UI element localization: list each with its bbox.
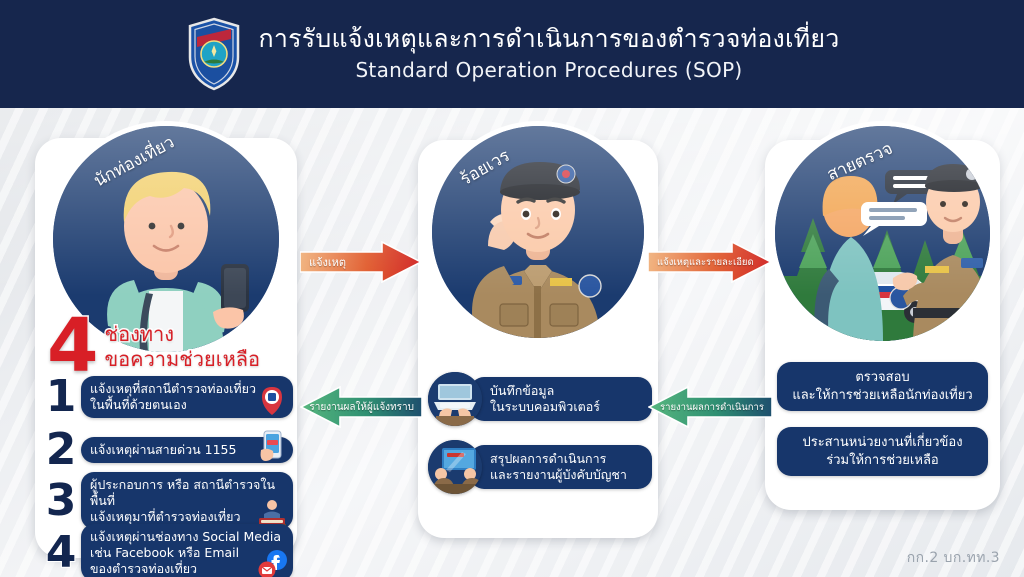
headline-words: ช่องทาง ขอความช่วยเหลือ [105,323,261,371]
arrow-report-incident-details: แจ้งเหตุและรายละเอียด [648,241,772,283]
arrow-report-incident: แจ้งเหตุ [300,241,422,283]
task-line-2: ร่วมให้การช่วยเหลือ [785,452,980,470]
channel-number: 3 [41,481,81,521]
diagram-canvas: นักท่องเที่ยว 4 ช่องทาง ขอความช่วยเหลือ … [0,108,1024,577]
arrow-label: แจ้งเหตุและรายละเอียด [648,241,772,283]
footer-credit: กก.2 บก.ทท.3 [907,547,1000,569]
patrol-column-card: สายตรวจ ตรวจสอบ และให้การช่วยเหลือนักท่อ… [765,140,1000,510]
headline-line-1: ช่องทาง [105,323,261,347]
tourist-police-shield-icon [185,17,243,91]
patrol-task-pill[interactable]: ตรวจสอบ และให้การช่วยเหลือนักท่องเที่ยว [777,362,988,411]
help-channel-item[interactable]: 4 แจ้งเหตุผ่านช่องทาง Social Media เช่น … [41,524,293,577]
channel-line-1: แจ้งเหตุผ่านช่องทาง Social Media [90,529,284,545]
help-channel-item[interactable]: 3 ผู้ประกอบการ หรือ สถานีตำรวจในพื้นที่ … [41,472,293,529]
mobile-phone-hand-icon [255,428,289,462]
task-pill: สรุปผลการดำเนินการ และรายงานผู้บังคับบัญ… [470,445,652,490]
channel-number: 1 [41,377,81,417]
saluting-officer-avatar-icon [432,126,644,338]
facebook-email-icon [255,546,289,577]
help-channel-item[interactable]: 2 แจ้งเหตุผ่านสายด่วน 1155 [41,430,293,470]
task-line-1: สรุปผลการดำเนินการ [490,451,642,467]
help-channels-headline: 4 ช่องทาง ขอความช่วยเหลือ [47,308,297,386]
patrol-task-pill[interactable]: ประสานหน่วยงานที่เกี่ยวข้อง ร่วมให้การช่… [777,427,988,476]
task-line-1: บันทึกข้อมูล [490,383,642,399]
task-line-2: และให้การช่วยเหลือนักท่องเที่ยว [785,387,980,405]
help-channel-item[interactable]: 1 แจ้งเหตุที่สถานีตำรวจท่องเที่ยว ในพื้น… [41,376,293,418]
task-line-1: ตรวจสอบ [785,369,980,387]
channel-number: 2 [41,430,81,470]
arrow-label: รายงานผลให้ผู้แจ้งทราบ [300,386,422,428]
arrow-label: รายงานผลการดำเนินการ [648,386,772,428]
duty-officer-task[interactable]: สรุปผลการดำเนินการ และรายงานผู้บังคับบัญ… [428,440,652,494]
duty-officer-column-card: ร้อยเวร บันทึกข้อมูล [418,140,658,538]
task-line-1: ประสานหน่วยงานที่เกี่ยวข้อง [785,434,980,452]
headline-number: 4 [47,315,99,379]
briefing-presentation-icon [428,440,482,494]
tourist-column-card: นักท่องเที่ยว 4 ช่องทาง ขอความช่วยเหลือ … [35,138,297,558]
arrow-label: แจ้งเหตุ [300,241,422,283]
task-line-2: และรายงานผู้บังคับบัญชา [490,467,642,483]
arrow-report-operation-results: รายงานผลการดำเนินการ [648,386,772,428]
channel-pill: แจ้งเหตุผ่านช่องทาง Social Media เช่น Fa… [81,524,293,577]
page-title-english: Standard Operation Procedures (SOP) [355,57,742,83]
page-header: การรับแจ้งเหตุและการดำเนินการของตำรวจท่อ… [0,0,1024,108]
headline-line-2: ขอความช่วยเหลือ [105,348,261,372]
map-pin-station-icon [255,383,289,417]
duty-officer-task[interactable]: บันทึกข้อมูล ในระบบคอมพิวเตอร์ [428,372,652,426]
channel-number: 4 [41,533,81,573]
task-line-2: ในระบบคอมพิวเตอร์ [490,399,642,415]
channel-pill: แจ้งเหตุที่สถานีตำรวจท่องเที่ยว ในพื้นที… [81,376,293,418]
task-pill: บันทึกข้อมูล ในระบบคอมพิวเตอร์ [470,377,652,422]
computer-typing-icon [428,372,482,426]
header-text-block: การรับแจ้งเหตุและการดำเนินการของตำรวจท่อ… [259,25,840,84]
channel-pill: ผู้ประกอบการ หรือ สถานีตำรวจในพื้นที่ แจ… [81,472,293,529]
arrow-report-back-to-reporter: รายงานผลให้ผู้แจ้งทราบ [300,386,422,428]
channel-pill: แจ้งเหตุผ่านสายด่วน 1155 [81,437,293,463]
page-title-thai: การรับแจ้งเหตุและการดำเนินการของตำรวจท่อ… [259,25,840,54]
infographic-page: การรับแจ้งเหตุและการดำเนินการของตำรวจท่อ… [0,0,1024,577]
header-inner: การรับแจ้งเหตุและการดำเนินการของตำรวจท่อ… [185,17,840,91]
